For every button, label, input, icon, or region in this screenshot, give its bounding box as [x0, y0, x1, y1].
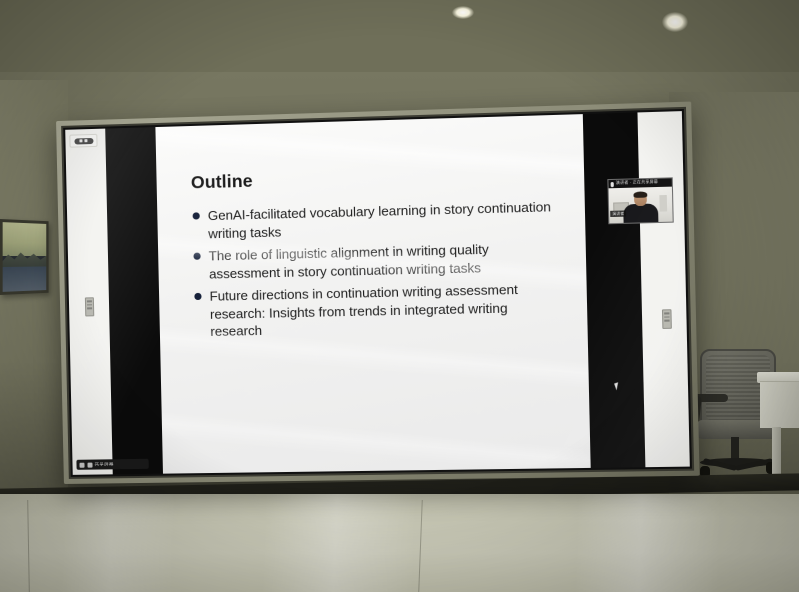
ceiling-downlight-right: [662, 12, 688, 32]
microphone-muted-icon: [611, 181, 614, 186]
participant-background-door: [659, 195, 667, 212]
bullet-dot-icon: [194, 293, 201, 300]
camera-icon[interactable]: [87, 462, 92, 467]
participant-video-feed: 演讲者: [609, 187, 673, 224]
participant-corner-label: 演讲者: [610, 210, 626, 217]
painting-water: [3, 266, 47, 292]
painting-sky: [3, 222, 47, 256]
slide-bullet-item: The role of linguistic alignment in writ…: [192, 239, 563, 283]
meeting-toolbar-label: 共享屏幕: [94, 462, 113, 467]
slide-bullet-text: Future directions in continuation writin…: [209, 282, 518, 339]
ceiling-downlight-left: [452, 6, 474, 19]
participant-thumbnail[interactable]: 演讲者 · 正在共享屏幕 演讲者: [607, 177, 673, 224]
presentation-display[interactable]: Outline GenAI-facilitated vocabulary lea…: [56, 102, 700, 484]
display-screen[interactable]: Outline GenAI-facilitated vocabulary lea…: [65, 111, 690, 475]
participant-name: 演讲者 · 正在共享屏幕: [616, 181, 658, 186]
side-desk-body: [760, 381, 799, 428]
shared-slide[interactable]: Outline GenAI-facilitated vocabulary lea…: [155, 114, 590, 474]
screen-left-control-panel[interactable]: [85, 297, 94, 316]
screen-share-badge-icon[interactable]: [69, 134, 97, 148]
bullet-dot-icon: [193, 253, 200, 260]
microphone-icon[interactable]: [79, 462, 84, 467]
screen-right-strip: [637, 111, 689, 467]
framed-landscape-painting: [0, 219, 49, 295]
bullet-dot-icon: [193, 212, 200, 219]
slide-bullet-item: GenAI-facilitated vocabulary learning in…: [191, 198, 562, 243]
slide-bullet-text: The role of linguistic alignment in writ…: [209, 242, 489, 282]
screen-right-control-panel[interactable]: [662, 309, 672, 329]
meeting-toolbar[interactable]: 共享屏幕: [76, 459, 148, 470]
slide-content: Outline GenAI-facilitated vocabulary lea…: [191, 162, 565, 346]
slide-bullet-item: Future directions in continuation writin…: [193, 280, 564, 341]
letterbox-band-right: [583, 112, 646, 467]
slide-bullet-text: GenAI-facilitated vocabulary learning in…: [208, 199, 551, 241]
screen-share-pill-icon: [74, 137, 93, 144]
slide-title: Outline: [191, 162, 562, 194]
participant-hair: [633, 191, 647, 198]
conference-room-photo: Outline GenAI-facilitated vocabulary lea…: [0, 0, 799, 592]
letterbox-band-left: [105, 127, 163, 474]
slide-bullet-list: GenAI-facilitated vocabulary learning in…: [191, 198, 564, 341]
participant-torso: [623, 203, 658, 222]
floor-reflection: [0, 494, 799, 592]
